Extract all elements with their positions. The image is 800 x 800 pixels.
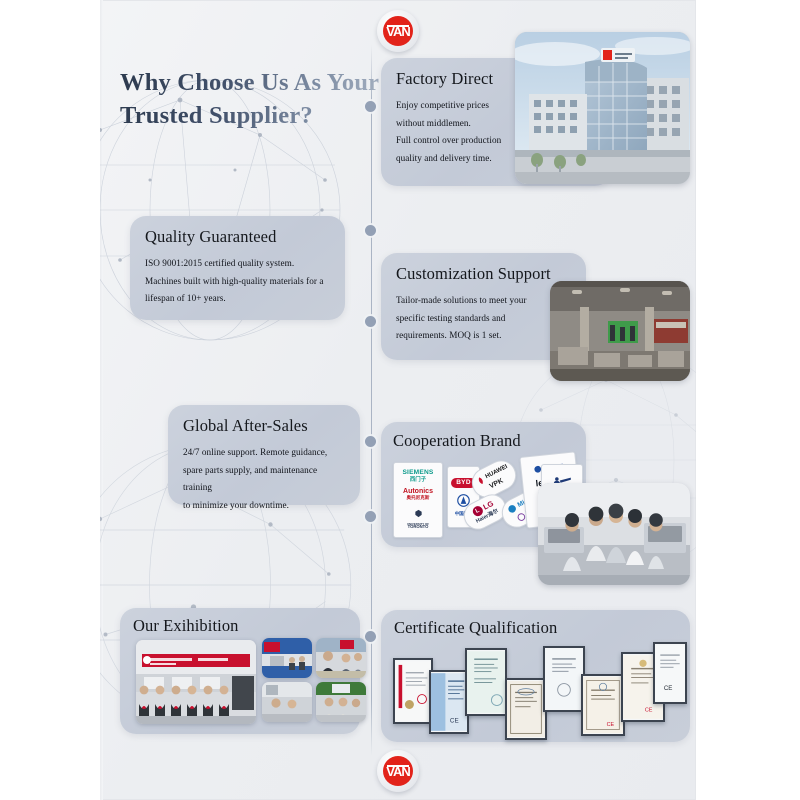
body-line: Tailor-made solutions to meet your	[396, 295, 527, 305]
certificate-item	[505, 678, 547, 740]
exhibition-photo-main	[136, 640, 256, 724]
timeline-dot-2	[365, 225, 376, 236]
brand-logo-top: VAN ®	[377, 10, 419, 52]
certificate-item: CE	[429, 670, 469, 734]
registered-mark-bottom: ®	[404, 761, 408, 767]
brand-label-toronto: TORONTO	[407, 525, 429, 529]
brand-label-autonics: Autonics	[403, 488, 433, 495]
body-line: specific testing standards and	[396, 313, 505, 323]
card-title: Customization Support	[396, 265, 572, 283]
page-title-line-1: Why Choose Us As Your	[120, 66, 385, 99]
body-line: Full control over production	[396, 135, 501, 145]
body-line: without middlemen.	[396, 118, 471, 128]
photo-office-building	[515, 32, 690, 184]
certificate-row: CE	[387, 644, 687, 736]
brand-logo-mark: VAN ®	[383, 16, 413, 46]
timeline-dot-6	[365, 631, 376, 642]
photo-workshop	[550, 281, 690, 381]
card-title: Cooperation Brand	[393, 432, 576, 450]
body-line: quality and delivery time.	[396, 153, 492, 163]
body-line: spare parts supply, and maintenance trai…	[183, 465, 317, 493]
exhibition-photo-2	[262, 638, 312, 678]
timeline-spine	[371, 44, 372, 756]
card-quality-guaranteed[interactable]: Quality Guaranteed ISO 9001:2015 certifi…	[130, 216, 345, 320]
card-body: 24/7 online support. Remote guidance, sp…	[183, 444, 346, 515]
body-line: Enjoy competitive prices	[396, 100, 489, 110]
body-line: Machines built with high-quality materia…	[145, 276, 323, 286]
page-title: Why Choose Us As Your Trusted Supplier?	[120, 66, 385, 132]
brand-label-siemens-cn: 西门子	[402, 478, 433, 483]
body-line: to minimize your downtime.	[183, 500, 289, 510]
card-title: Certificate Qualification	[394, 619, 680, 637]
body-line: 24/7 online support. Remote guidance,	[183, 447, 327, 457]
brand-box-siemens-autonics-toronto: SIEMENS 西门子 Autonics 奥托尼克斯 UNIVERSITY OF…	[393, 462, 443, 538]
exhibition-photo-4	[262, 682, 312, 722]
svg-text:CE: CE	[664, 685, 673, 692]
poster-page: VAN ® Why Choose Us As Your Trusted Supp…	[100, 0, 696, 800]
exhibition-photo-5	[316, 682, 366, 722]
certificate-item	[465, 648, 507, 716]
certificate-item: CE	[653, 642, 687, 704]
card-title: Our Exihibition	[133, 617, 350, 635]
body-line: requirements. MOQ is 1 set.	[396, 330, 501, 340]
brand-label-huawei: HUAWEI	[485, 464, 509, 480]
page-title-line-2: Trusted Supplier?	[120, 99, 385, 132]
exhibition-photo-3	[316, 638, 366, 678]
timeline-dot-4	[365, 436, 376, 447]
card-global-after-sales[interactable]: Global After-Sales 24/7 online support. …	[168, 405, 360, 505]
timeline-dot-3	[365, 316, 376, 327]
certificate-item: CE	[581, 674, 625, 736]
svg-text:CE: CE	[607, 722, 615, 728]
card-body: ISO 9001:2015 certified quality system. …	[145, 255, 331, 308]
registered-mark: ®	[404, 21, 408, 27]
card-certificate-qualification[interactable]: Certificate Qualification CE	[381, 610, 690, 742]
toronto-crest-icon	[414, 509, 423, 518]
card-our-exhibition[interactable]: Our Exihibition	[120, 608, 360, 734]
photo-customer-visit	[538, 483, 690, 585]
card-body: Tailor-made solutions to meet your speci…	[396, 292, 572, 345]
certificate-item	[543, 646, 585, 712]
body-line: lifespan of 10+ years.	[145, 293, 226, 303]
certificate-item	[393, 658, 433, 724]
svg-text:CE: CE	[450, 718, 459, 725]
card-title: Global After-Sales	[183, 417, 346, 435]
card-title: Quality Guaranteed	[145, 228, 331, 246]
brand-label-autonics-cn: 奥托尼克斯	[403, 496, 433, 501]
brand-label-siemens: SIEMENS	[402, 470, 433, 477]
brand-logo-bottom: VAN ®	[377, 750, 419, 792]
brand-logo-mark-bottom: VAN ®	[383, 756, 413, 786]
svg-text:CE: CE	[645, 708, 653, 714]
body-line: ISO 9001:2015 certified quality system.	[145, 258, 294, 268]
timeline-dot-5	[365, 511, 376, 522]
